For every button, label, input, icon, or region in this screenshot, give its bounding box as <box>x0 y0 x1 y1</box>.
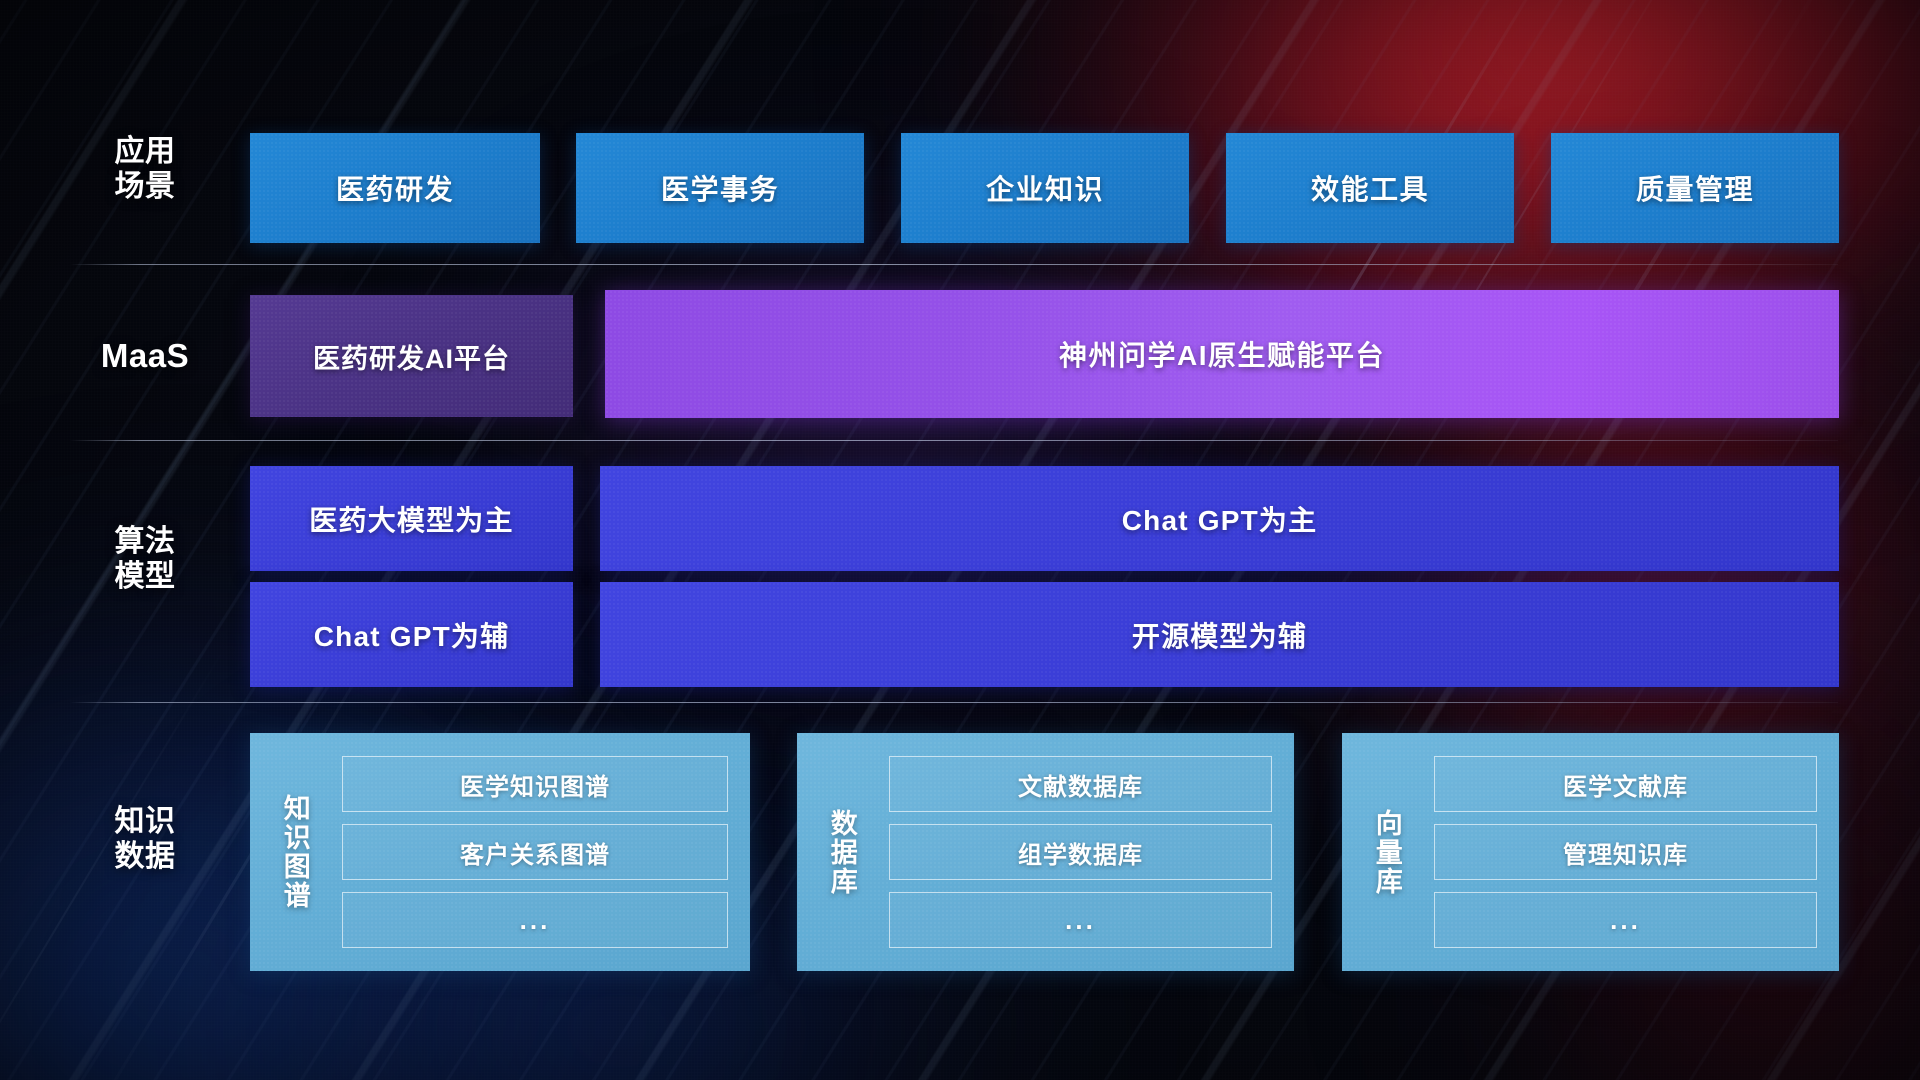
scenario-label-1: 医药研发 <box>336 168 454 208</box>
row-label-knowledge-data: 知识 数据 <box>80 805 210 875</box>
knowledge-item-2-3[interactable]: ... <box>889 892 1272 948</box>
knowledge-item-1-1[interactable]: 医学知识图谱 <box>342 756 728 812</box>
scenario-box-3[interactable]: 企业知识 <box>901 133 1189 243</box>
maas-label-dedicated: 医药研发AI平台 <box>313 337 510 376</box>
knowledge-item-3-1[interactable]: 医学文献库 <box>1434 756 1817 812</box>
knowledge-item-2-1[interactable]: 文献数据库 <box>889 756 1272 812</box>
scenario-label-5: 质量管理 <box>1636 168 1754 208</box>
knowledge-items-1: 医学知识图谱 客户关系图谱 ... <box>338 733 750 971</box>
knowledge-group-knowledge-graph[interactable]: 知识图谱 医学知识图谱 客户关系图谱 ... <box>250 733 750 971</box>
algo-label-1: 医药大模型为主 <box>309 499 513 539</box>
algo-box-chatgpt-primary[interactable]: Chat GPT为主 <box>600 466 1839 571</box>
algo-label-3: Chat GPT为辅 <box>314 615 510 655</box>
knowledge-item-3-2[interactable]: 管理知识库 <box>1434 824 1817 880</box>
maas-label-enablement: 神州问学AI原生赋能平台 <box>1059 334 1385 374</box>
knowledge-items-3: 医学文献库 管理知识库 ... <box>1430 733 1839 971</box>
knowledge-item-3-3[interactable]: ... <box>1434 892 1817 948</box>
divider-1 <box>70 264 1838 265</box>
knowledge-group-database[interactable]: 数据库 文献数据库 组学数据库 ... <box>797 733 1294 971</box>
row-label-application-scenarios: 应用 场景 <box>80 135 210 205</box>
divider-3 <box>70 702 1838 703</box>
knowledge-item-1-3[interactable]: ... <box>342 892 728 948</box>
knowledge-group-label-3: 向量库 <box>1342 733 1430 971</box>
scenario-box-4[interactable]: 效能工具 <box>1226 133 1514 243</box>
knowledge-group-label-1: 知识图谱 <box>250 733 338 971</box>
algo-box-opensource-secondary[interactable]: 开源模型为辅 <box>600 582 1839 687</box>
knowledge-item-2-2[interactable]: 组学数据库 <box>889 824 1272 880</box>
knowledge-item-1-2[interactable]: 客户关系图谱 <box>342 824 728 880</box>
divider-2 <box>70 440 1838 441</box>
maas-box-dedicated-platform[interactable]: 医药研发AI平台 <box>250 295 573 417</box>
row-label-algorithm-model: 算法 模型 <box>80 525 210 595</box>
knowledge-group-label-2: 数据库 <box>797 733 885 971</box>
scenario-label-4: 效能工具 <box>1311 168 1429 208</box>
knowledge-group-vector-store[interactable]: 向量库 医学文献库 管理知识库 ... <box>1342 733 1839 971</box>
scenario-label-2: 医学事务 <box>661 168 779 208</box>
algo-box-chatgpt-secondary[interactable]: Chat GPT为辅 <box>250 582 573 687</box>
scenario-box-5[interactable]: 质量管理 <box>1551 133 1839 243</box>
row-label-maas: MaaS <box>80 337 210 375</box>
algo-label-2: Chat GPT为主 <box>1122 499 1318 539</box>
algo-label-4: 开源模型为辅 <box>1132 615 1307 655</box>
algo-box-domain-llm-primary[interactable]: 医药大模型为主 <box>250 466 573 571</box>
scenario-box-2[interactable]: 医学事务 <box>576 133 864 243</box>
maas-box-enablement-platform[interactable]: 神州问学AI原生赋能平台 <box>605 290 1839 418</box>
knowledge-items-2: 文献数据库 组学数据库 ... <box>885 733 1294 971</box>
scenario-box-1[interactable]: 医药研发 <box>250 133 540 243</box>
scenario-label-3: 企业知识 <box>986 168 1104 208</box>
